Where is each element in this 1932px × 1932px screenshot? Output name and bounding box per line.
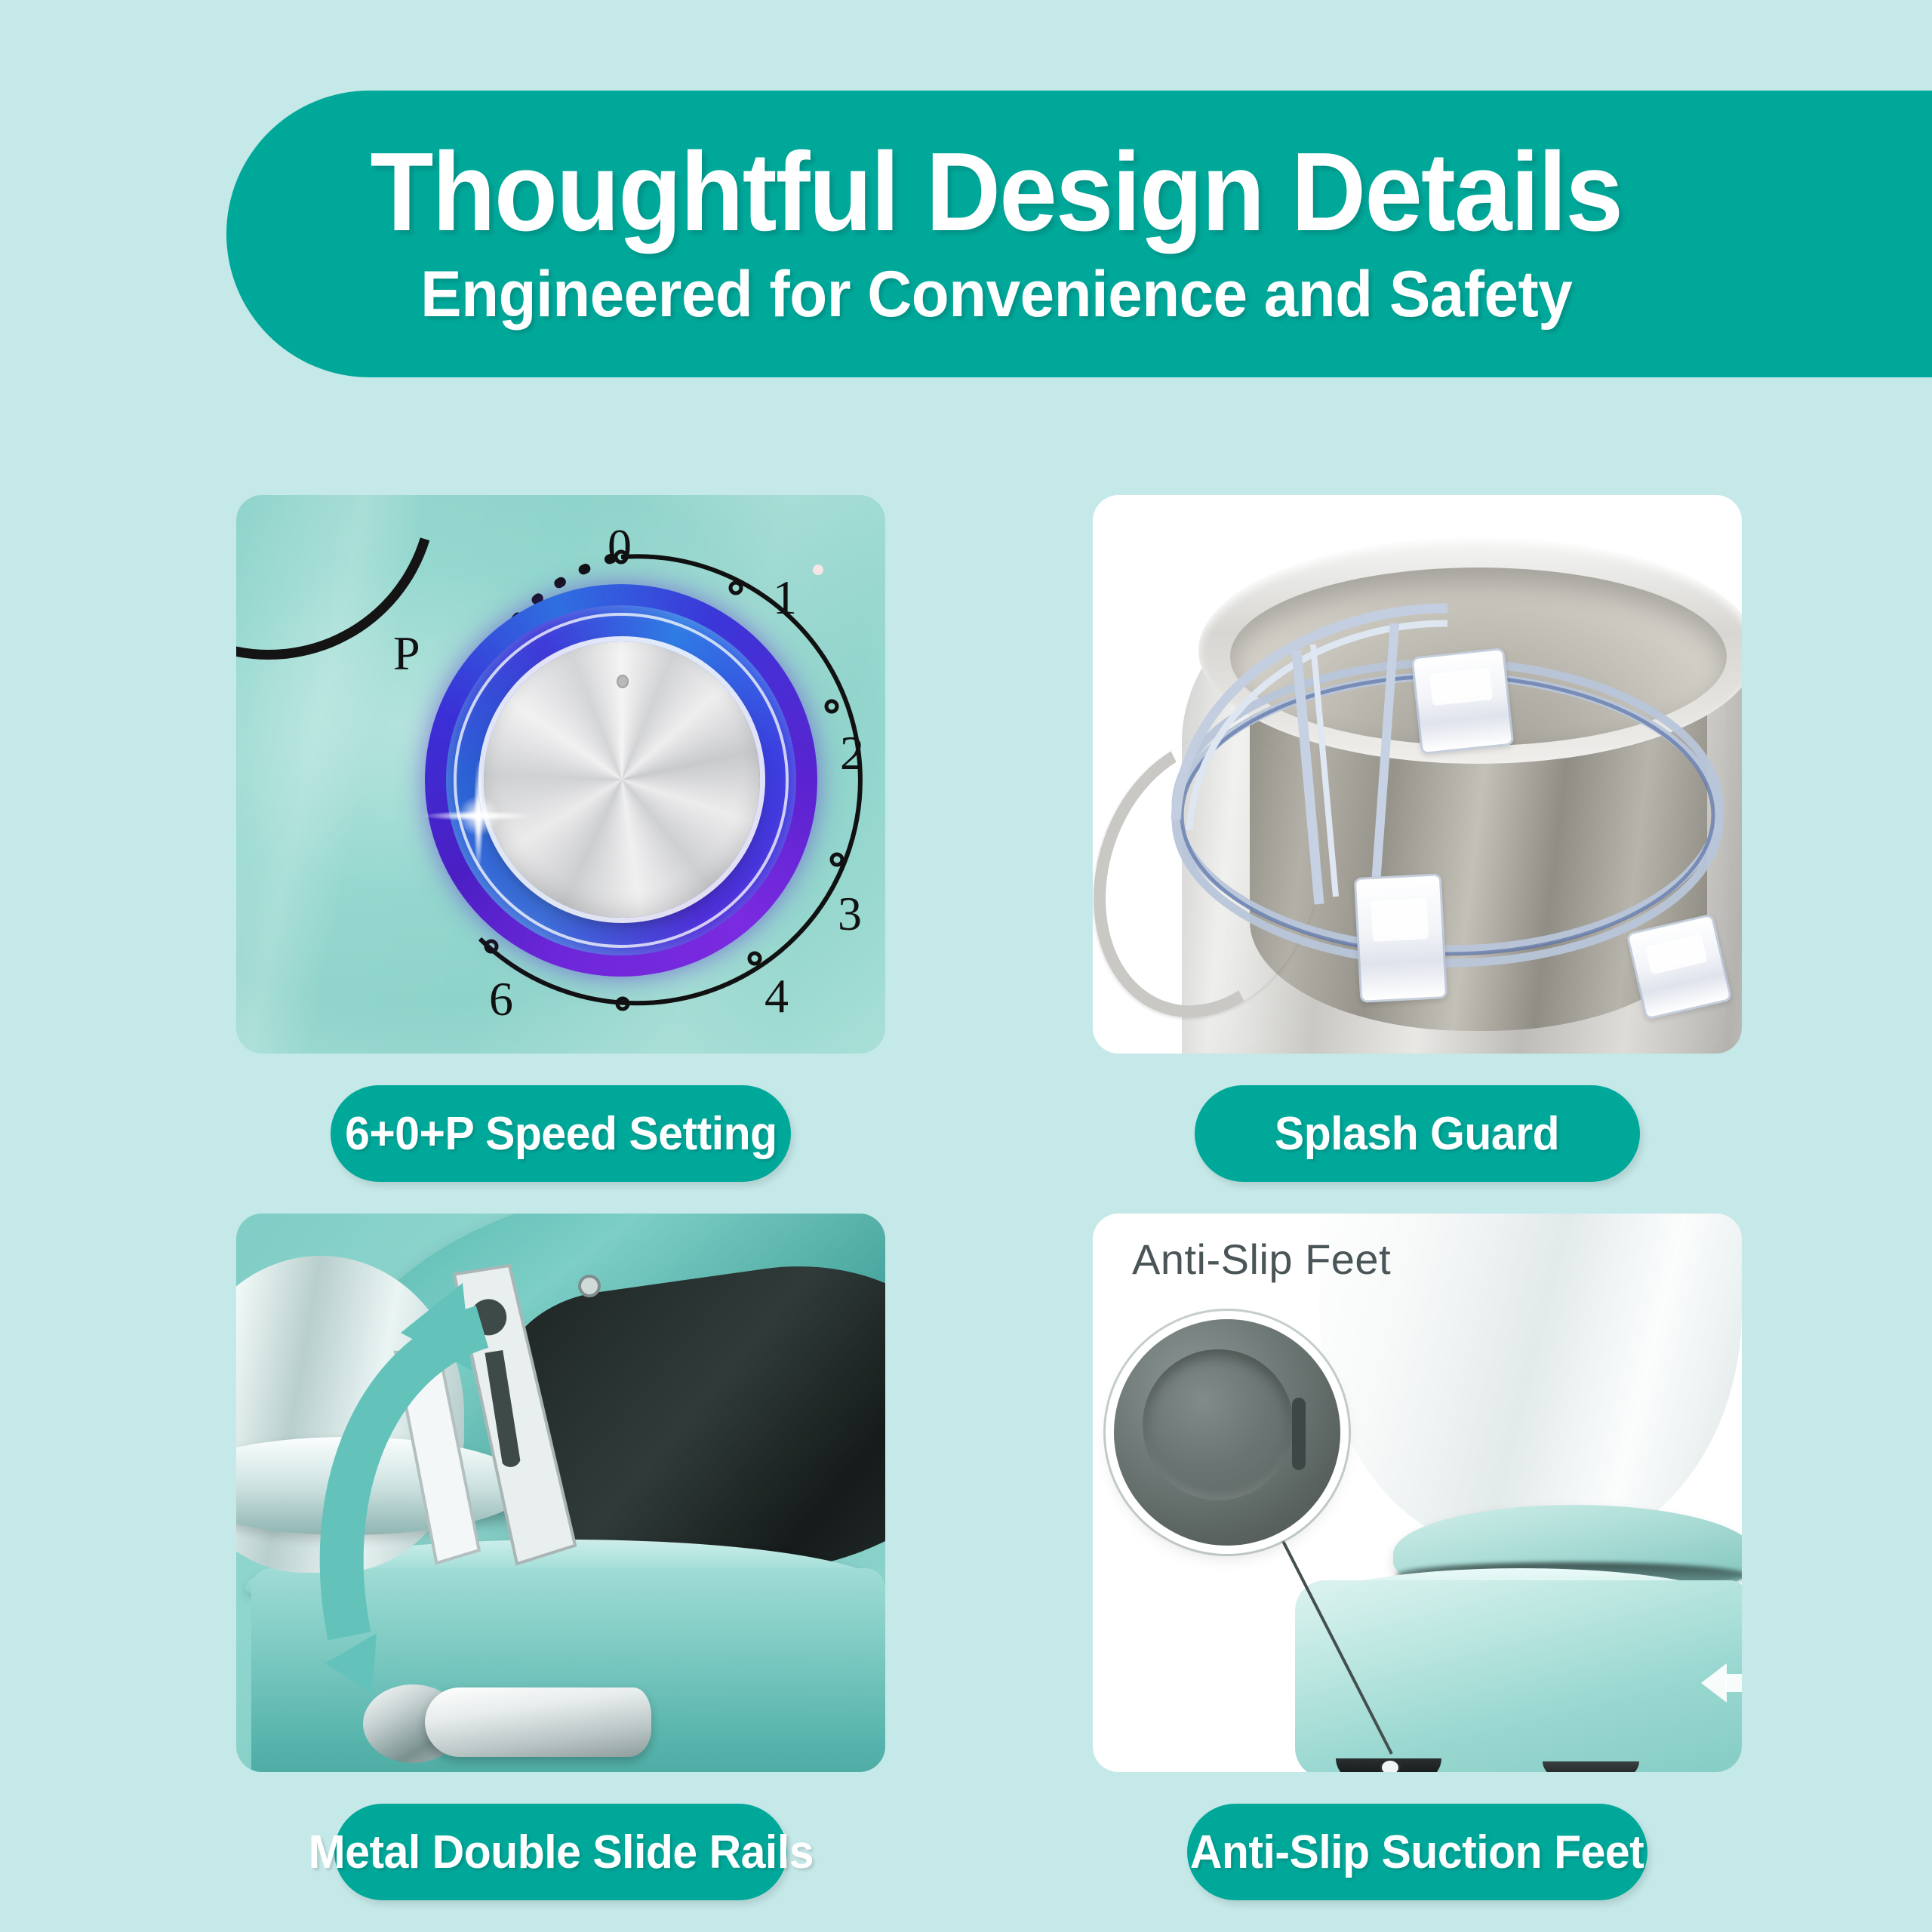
splash-guard-clip bbox=[1354, 873, 1448, 1003]
dial-marking-4: 4 bbox=[764, 972, 789, 1020]
suction-feet-photo: Anti-Slip Feet bbox=[1093, 1214, 1742, 1772]
page-title: Thoughtful Design Details bbox=[371, 136, 1623, 250]
feature-label-text: Anti-Slip Suction Feet bbox=[1190, 1826, 1644, 1879]
tilt-release-lever[interactable] bbox=[425, 1687, 651, 1757]
feature-card-slide-rails: Metal Double Slide Rails bbox=[236, 1214, 885, 1900]
dial-marking-3: 3 bbox=[838, 890, 862, 938]
page-subtitle: Engineered for Convenience and Safety bbox=[420, 257, 1572, 332]
feature-label-slide-rails: Metal Double Slide Rails bbox=[334, 1804, 787, 1900]
dial-marking-0: 0 bbox=[608, 522, 632, 571]
speed-dial[interactable]: P 0 1 2 3 4 6 bbox=[357, 516, 885, 1044]
suction-cup-notch bbox=[1292, 1398, 1306, 1470]
slide-rails-photo bbox=[236, 1214, 885, 1772]
header-banner: Thoughtful Design Details Engineered for… bbox=[226, 91, 1932, 377]
feature-label-text: 6+0+P Speed Setting bbox=[345, 1107, 777, 1161]
splash-guard-photo bbox=[1093, 495, 1742, 1054]
feature-card-suction-feet: Anti-Slip Feet Anti-Slip Suction Feet bbox=[1093, 1214, 1742, 1900]
feature-card-splash-guard: Splash Guard bbox=[1093, 495, 1742, 1182]
feature-label-speed-setting: 6+0+P Speed Setting bbox=[331, 1085, 791, 1182]
dial-marking-2: 2 bbox=[840, 729, 864, 777]
dial-marking-6: 6 bbox=[489, 975, 513, 1023]
dial-marking-1: 1 bbox=[773, 574, 797, 622]
feature-label-text: Splash Guard bbox=[1275, 1107, 1559, 1161]
splash-guard-clip bbox=[1411, 648, 1515, 755]
feature-label-splash-guard: Splash Guard bbox=[1195, 1085, 1640, 1182]
feature-label-text: Metal Double Slide Rails bbox=[308, 1826, 813, 1879]
feature-label-suction-feet: Anti-Slip Suction Feet bbox=[1187, 1804, 1647, 1900]
feature-card-speed-setting: P 0 1 2 3 4 6 6+0+P Speed Setting bbox=[236, 495, 885, 1182]
magnified-foot-callout bbox=[1114, 1319, 1340, 1546]
infographic-page: Thoughtful Design Details Engineered for… bbox=[0, 0, 1932, 1932]
photo-annotation-anti-slip-feet: Anti-Slip Feet bbox=[1132, 1235, 1391, 1284]
dial-knob[interactable] bbox=[484, 641, 760, 918]
knob-center-dot-icon bbox=[617, 675, 629, 688]
dial-marking-p: P bbox=[393, 629, 420, 678]
speed-dial-photo: P 0 1 2 3 4 6 bbox=[236, 495, 885, 1054]
suction-cup-detail bbox=[1143, 1349, 1294, 1500]
